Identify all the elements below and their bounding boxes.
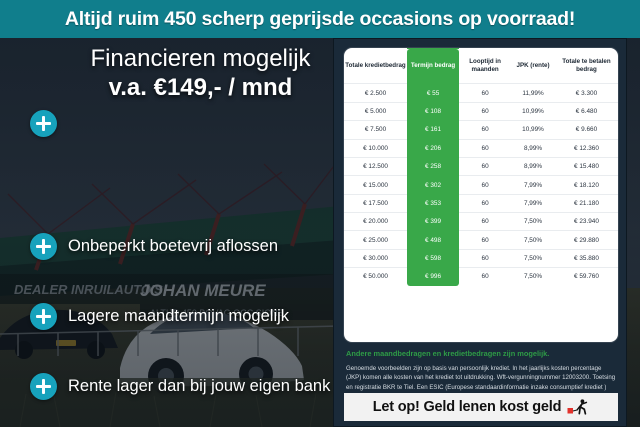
table-body: € 2.500€ 556011,99%€ 3.300€ 5.000€ 10860… [344,84,618,286]
cell-duration: 60 [459,102,511,120]
cell-monthly-amount: € 399 [407,213,459,231]
cell-total-credit: € 5.000 [344,102,407,120]
cell-apr: 7,50% [511,231,555,249]
cell-total-credit: € 7.500 [344,121,407,139]
headline-plus-bullet [30,110,57,137]
table-header-row: Totale kredietbedrag Termijn bedrag Loop… [344,49,618,84]
cell-apr: 7,50% [511,249,555,267]
cell-apr: 7,99% [511,176,555,194]
cell-monthly-amount: € 598 [407,249,459,267]
table-row: € 25.000€ 498607,50%€ 29.880 [344,231,618,249]
disclaimer-heading: Andere maandbedragen en kredietbedragen … [346,349,618,359]
cell-apr: 7,50% [511,213,555,231]
person-pulling-block-icon [567,399,589,415]
col-header-total-payable: Totale te betalen bedrag [555,49,618,84]
cell-duration: 60 [459,139,511,157]
plus-icon [30,233,57,260]
cell-total-credit: € 10.000 [344,139,407,157]
cell-total-credit: € 15.000 [344,176,407,194]
cell-duration: 60 [459,194,511,212]
cell-total-payable: € 29.880 [555,231,618,249]
plus-icon [30,110,57,137]
table-row: € 10.000€ 206608,99%€ 12.360 [344,139,618,157]
table-row: € 15.000€ 302607,99%€ 18.120 [344,176,618,194]
cell-monthly-amount: € 108 [407,102,459,120]
loan-warning-text: Let op! Geld lenen kost geld [373,399,562,415]
cell-total-credit: € 20.000 [344,213,407,231]
benefit-label: Lagere maandtermijn mogelijk [68,307,289,326]
cell-duration: 60 [459,231,511,249]
cell-duration: 60 [459,268,511,286]
col-header-total-credit: Totale kredietbedrag [344,49,407,84]
benefit-label: Rente lager dan bij jouw eigen bank [68,377,330,396]
cell-apr: 11,99% [511,84,555,102]
cell-apr: 10,99% [511,102,555,120]
cell-total-credit: € 12.500 [344,157,407,175]
cell-apr: 10,99% [511,121,555,139]
loan-info-panel: Totale kredietbedrag Termijn bedrag Loop… [333,38,627,427]
cell-monthly-amount: € 302 [407,176,459,194]
cell-apr: 8,99% [511,139,555,157]
cell-apr: 8,99% [511,157,555,175]
cell-monthly-amount: € 206 [407,139,459,157]
table-row: € 30.000€ 598607,50%€ 35.880 [344,249,618,267]
cell-apr: 7,99% [511,194,555,212]
cell-total-payable: € 12.360 [555,139,618,157]
promo-banner-text: Altijd ruim 450 scherp geprijsde occasio… [65,8,575,31]
cell-total-credit: € 25.000 [344,231,407,249]
loan-rates-table: Totale kredietbedrag Termijn bedrag Loop… [344,48,618,286]
col-header-duration: Looptijd in maanden [459,49,511,84]
cell-duration: 60 [459,157,511,175]
col-header-monthly-amount: Termijn bedrag [407,49,459,84]
financing-headline: Financieren mogelijk v.a. €149,- / mnd [58,46,343,101]
benefit-item-2: Lagere maandtermijn mogelijk [30,303,289,330]
cell-total-payable: € 6.480 [555,102,618,120]
cell-total-credit: € 50.000 [344,268,407,286]
cell-total-payable: € 3.300 [555,84,618,102]
table-row: € 7.500€ 1616010,99%€ 9.660 [344,121,618,139]
cell-total-payable: € 15.480 [555,157,618,175]
loan-table-card: Totale kredietbedrag Termijn bedrag Loop… [344,48,618,342]
cell-monthly-amount: € 498 [407,231,459,249]
cell-total-payable: € 21.180 [555,194,618,212]
benefit-item-3: Rente lager dan bij jouw eigen bank [30,373,330,400]
cell-apr: 7,50% [511,268,555,286]
cell-total-credit: € 2.500 [344,84,407,102]
cell-duration: 60 [459,121,511,139]
cell-total-payable: € 18.120 [555,176,618,194]
cell-total-payable: € 23.940 [555,213,618,231]
cell-duration: 60 [459,213,511,231]
headline-line-1: Financieren mogelijk [58,46,343,72]
cell-monthly-amount: € 353 [407,194,459,212]
benefit-label: Onbeperkt boetevrij aflossen [68,237,278,256]
table-row: € 20.000€ 399607,50%€ 23.940 [344,213,618,231]
plus-icon [30,373,57,400]
cell-duration: 60 [459,84,511,102]
cell-monthly-amount: € 258 [407,157,459,175]
table-row: € 17.500€ 353607,99%€ 21.180 [344,194,618,212]
cell-total-payable: € 9.660 [555,121,618,139]
cell-monthly-amount: € 161 [407,121,459,139]
benefit-item-1: Onbeperkt boetevrij aflossen [30,233,278,260]
col-header-apr: JPK (rente) [511,49,555,84]
table-row: € 12.500€ 258608,99%€ 15.480 [344,157,618,175]
promo-banner: Altijd ruim 450 scherp geprijsde occasio… [0,0,640,38]
loan-warning-bar: Let op! Geld lenen kost geld [344,393,618,421]
cell-total-credit: € 17.500 [344,194,407,212]
table-row: € 2.500€ 556011,99%€ 3.300 [344,84,618,102]
plus-icon [30,303,57,330]
cell-duration: 60 [459,249,511,267]
benefits-column: Financieren mogelijk v.a. €149,- / mnd O… [0,38,345,427]
cell-monthly-amount: € 55 [407,84,459,102]
cell-total-payable: € 35.880 [555,249,618,267]
cell-total-credit: € 30.000 [344,249,407,267]
table-row: € 5.000€ 1086010,99%€ 6.480 [344,102,618,120]
headline-line-2: v.a. €149,- / mnd [58,75,343,101]
cell-monthly-amount: € 996 [407,268,459,286]
cell-total-payable: € 59.760 [555,268,618,286]
cell-duration: 60 [459,176,511,194]
table-row: € 50.000€ 996607,50%€ 59.760 [344,268,618,286]
